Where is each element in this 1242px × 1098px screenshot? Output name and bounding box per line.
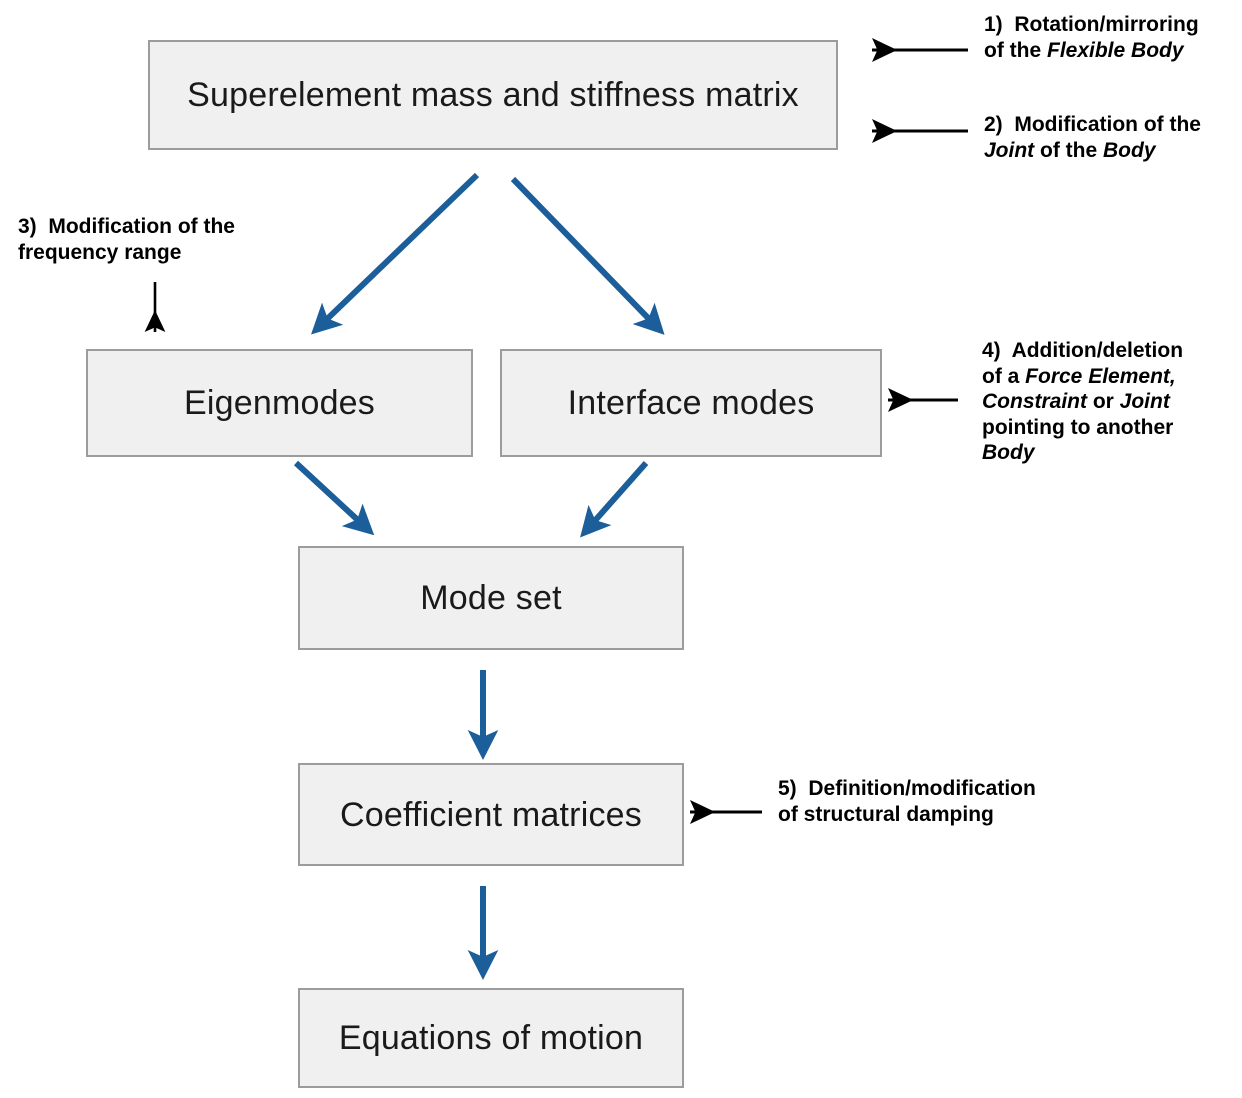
annotation-text: Modification of the bbox=[48, 215, 235, 238]
annotation-emphasis: Body bbox=[1103, 139, 1156, 162]
annotation-text: Modification of the bbox=[1014, 113, 1201, 136]
annotation-line: 1) Rotation/mirroring bbox=[984, 12, 1242, 38]
annotation-emphasis: Flexible Body bbox=[1047, 39, 1184, 62]
annotation-line: 2) Modification of the bbox=[984, 112, 1242, 138]
annotation-emphasis: Force Element, bbox=[1025, 365, 1176, 388]
annotation-text: Addition/deletion bbox=[1012, 339, 1183, 362]
node-equations-of-motion-label: Equations of motion bbox=[339, 1021, 643, 1055]
diagram-canvas: Superelement mass and stiffness matrix E… bbox=[0, 0, 1242, 1098]
annotation-structural-damping: 5) Definition/modificationof structural … bbox=[778, 776, 1098, 827]
annotation-text: of a bbox=[982, 365, 1025, 388]
flow-arrow-interface-modes-to-mode-set bbox=[592, 463, 646, 524]
flow-arrow-eigenmodes-to-mode-set bbox=[296, 463, 361, 523]
annotation-number: 5) bbox=[778, 777, 808, 800]
annotation-line: Body bbox=[982, 440, 1236, 466]
annotation-text: pointing to another bbox=[982, 416, 1173, 439]
annotation-number: 2) bbox=[984, 113, 1014, 136]
node-mode-set-label: Mode set bbox=[420, 581, 561, 615]
annotation-text: Definition/modification bbox=[808, 777, 1035, 800]
annotation-line: Joint of the Body bbox=[984, 138, 1242, 164]
annotation-line: 4) Addition/deletion bbox=[982, 338, 1236, 364]
node-equations-of-motion[interactable]: Equations of motion bbox=[298, 988, 684, 1088]
node-superelement[interactable]: Superelement mass and stiffness matrix bbox=[148, 40, 838, 150]
annotation-line: frequency range bbox=[18, 240, 288, 266]
node-coefficient-matrices[interactable]: Coefficient matrices bbox=[298, 763, 684, 866]
annotation-line: Constraint or Joint bbox=[982, 389, 1236, 415]
annotation-text: frequency range bbox=[18, 241, 181, 264]
flow-arrow-superelement-to-interface-modes bbox=[513, 179, 652, 322]
node-mode-set[interactable]: Mode set bbox=[298, 546, 684, 650]
annotation-joint-modification: 2) Modification of theJoint of the Body bbox=[984, 112, 1242, 163]
annotation-emphasis: Joint bbox=[1120, 390, 1170, 413]
annotation-line: of a Force Element, bbox=[982, 364, 1236, 390]
annotation-number: 3) bbox=[18, 215, 48, 238]
annotation-emphasis: Joint bbox=[984, 139, 1034, 162]
annotation-emphasis: Body bbox=[982, 441, 1035, 464]
annotation-text: of the bbox=[1034, 139, 1103, 162]
annotation-number: 1) bbox=[984, 13, 1014, 36]
annotation-line: 5) Definition/modification bbox=[778, 776, 1098, 802]
node-eigenmodes-label: Eigenmodes bbox=[184, 386, 375, 420]
annotation-force-element-constraint-joint: 4) Addition/deletionof a Force Element,C… bbox=[982, 338, 1236, 466]
annotation-text: of the bbox=[984, 39, 1047, 62]
annotation-line: of the Flexible Body bbox=[984, 38, 1242, 64]
node-superelement-label: Superelement mass and stiffness matrix bbox=[187, 78, 799, 112]
annotation-emphasis: Constraint bbox=[982, 390, 1087, 413]
node-eigenmodes[interactable]: Eigenmodes bbox=[86, 349, 473, 457]
annotation-frequency-range: 3) Modification of thefrequency range bbox=[18, 214, 288, 265]
node-interface-modes-label: Interface modes bbox=[568, 386, 815, 420]
node-interface-modes[interactable]: Interface modes bbox=[500, 349, 882, 457]
annotation-rotation-mirroring: 1) Rotation/mirroringof the Flexible Bod… bbox=[984, 12, 1242, 63]
annotation-number: 4) bbox=[982, 339, 1012, 362]
annotation-text: of structural damping bbox=[778, 803, 994, 826]
annotation-line: 3) Modification of the bbox=[18, 214, 288, 240]
annotation-text: Rotation/mirroring bbox=[1014, 13, 1198, 36]
annotation-text: or bbox=[1087, 390, 1120, 413]
annotation-line: of structural damping bbox=[778, 802, 1098, 828]
node-coefficient-matrices-label: Coefficient matrices bbox=[340, 798, 642, 832]
flow-arrow-superelement-to-eigenmodes bbox=[324, 175, 477, 322]
annotation-line: pointing to another bbox=[982, 415, 1236, 441]
